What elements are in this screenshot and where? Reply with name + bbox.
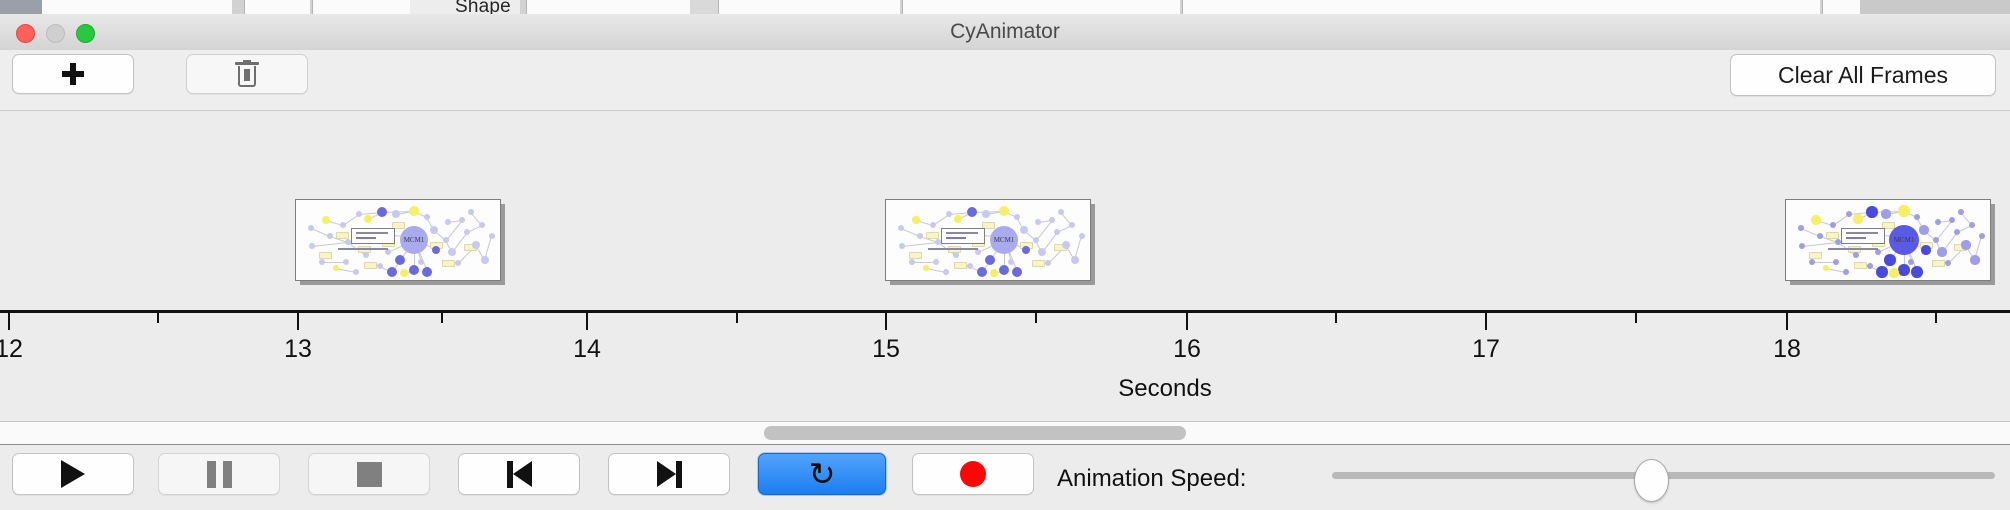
network-node: [422, 267, 432, 277]
network-node-label: [954, 262, 967, 269]
skip-forward-icon: [657, 461, 682, 488]
network-node: [308, 225, 314, 231]
axis-tick-label: 15: [872, 335, 900, 364]
axis-tick-major: [885, 313, 887, 330]
network-node: [455, 260, 461, 266]
network-node: [364, 215, 372, 223]
network-node: [1020, 226, 1028, 234]
background-window-strip: Shape: [0, 0, 2010, 14]
network-node: [912, 216, 920, 224]
axis-tick-label: 12: [0, 335, 23, 364]
window-title: CyAnimator: [0, 14, 2010, 50]
network-node-label: [1809, 252, 1822, 259]
network-node: [923, 265, 929, 271]
network-node: [1846, 211, 1853, 218]
network-node: [982, 210, 990, 218]
network-node: [967, 263, 973, 269]
frame-thumbnail-3[interactable]: MCM1: [1785, 199, 1995, 285]
network-node: [985, 255, 995, 265]
network-node: [409, 265, 419, 275]
network-node: [377, 263, 383, 269]
network-edge: [312, 242, 348, 247]
network-node: [909, 259, 915, 265]
network-node: [1062, 241, 1070, 249]
transport-bar: ↻ Animation Speed:: [0, 445, 2010, 510]
pause-button[interactable]: [158, 453, 280, 495]
network-node: [1830, 222, 1837, 229]
network-node: [479, 222, 485, 228]
network-node: [1853, 252, 1860, 259]
axis-title: Seconds: [1118, 375, 1211, 403]
network-node: [468, 209, 474, 215]
loop-button[interactable]: ↻: [758, 453, 886, 495]
network-node: [363, 252, 369, 258]
network-node: [954, 215, 962, 223]
network-node: [1799, 243, 1806, 250]
network-node: [999, 206, 1009, 216]
network-node: [472, 241, 480, 249]
timeline-panel[interactable]: 12131415161718 MCM1MCM1MCM1 Seconds: [0, 111, 2010, 422]
network-node: [1823, 265, 1830, 272]
network-node: [1038, 248, 1046, 256]
axis-tick-label: 16: [1173, 335, 1201, 364]
network-node: [353, 269, 359, 275]
title-bar: CyAnimator: [0, 14, 2010, 51]
network-node: [1843, 269, 1850, 276]
frame-network-image: MCM1: [1785, 199, 1991, 281]
play-button[interactable]: [12, 453, 134, 495]
network-node: [917, 233, 923, 239]
network-node: [409, 206, 419, 216]
network-node: [327, 233, 333, 239]
network-node: [1079, 233, 1085, 239]
trash-icon: [235, 60, 259, 88]
network-node-label: [442, 260, 455, 267]
network-edge: [902, 242, 938, 247]
record-icon: [960, 461, 986, 487]
network-node-label: [336, 232, 349, 239]
axis-tick-minor: [157, 313, 159, 323]
network-node-label: [319, 252, 332, 259]
axis-tick-label: 14: [573, 335, 601, 364]
network-node: [459, 217, 465, 223]
network-node: [1889, 268, 1898, 277]
network-node: [1933, 237, 1940, 244]
network-node: [489, 233, 495, 239]
network-node: [1954, 229, 1961, 236]
plus-icon: [62, 63, 84, 85]
network-node: [1876, 266, 1888, 278]
network-node: [333, 265, 339, 271]
axis-tick-minor: [1335, 313, 1337, 323]
network-edge: [1802, 242, 1838, 247]
axis-tick-major: [1786, 313, 1788, 330]
network-node-label: [926, 232, 939, 239]
axis-tick-major: [1186, 313, 1188, 330]
network-node: [1069, 222, 1075, 228]
network-node: [943, 269, 949, 275]
axis-tick-major: [8, 313, 10, 330]
loop-icon: ↻: [809, 458, 836, 490]
network-node: [1049, 217, 1055, 223]
cyanimator-window: Shape CyAnimator Clear All Frames 121314…: [0, 0, 2010, 510]
network-node: [1945, 260, 1952, 267]
network-node: [1935, 219, 1942, 226]
network-node: [424, 214, 430, 220]
network-node: [1914, 214, 1921, 221]
network-node: [898, 225, 904, 231]
background-window-label: Shape: [455, 0, 511, 14]
network-node: [1045, 260, 1051, 266]
network-node: [1937, 247, 1946, 256]
frame-network-image: MCM1: [295, 199, 501, 281]
axis-tick-major: [297, 313, 299, 330]
network-node: [1058, 209, 1064, 215]
axis-tick-minor: [1935, 313, 1937, 323]
network-node: [395, 255, 405, 265]
network-node: [1979, 233, 1986, 240]
stop-button[interactable]: [308, 453, 430, 495]
network-node: [1811, 215, 1820, 224]
network-node: [319, 259, 325, 265]
network-node: [481, 256, 489, 264]
network-node: [464, 229, 470, 235]
network-node: [1809, 259, 1816, 266]
network-node: [930, 222, 936, 228]
network-node-label: [909, 252, 922, 259]
delete-frame-button[interactable]: [186, 54, 308, 94]
axis-tick-major: [1485, 313, 1487, 330]
network-node: [1911, 266, 1923, 278]
network-node: [400, 269, 408, 277]
network-node: [387, 267, 397, 277]
network-node-label: [364, 262, 377, 269]
network-annotation: [338, 248, 388, 250]
network-node-label: [1032, 260, 1045, 267]
play-icon: [61, 460, 85, 488]
network-node: [1961, 240, 1970, 249]
network-node: [392, 210, 400, 218]
network-node: [1853, 214, 1862, 223]
network-node: [1949, 217, 1956, 224]
network-node-label: [1826, 232, 1839, 239]
network-node: [418, 259, 424, 265]
network-node: [1035, 219, 1041, 225]
network-node: [1071, 256, 1079, 264]
network-node: [899, 243, 905, 249]
stop-icon: [357, 462, 382, 487]
network-node: [356, 211, 362, 217]
network-node: [343, 259, 349, 265]
axis-tick-label: 17: [1472, 335, 1500, 364]
network-callout: [1841, 228, 1885, 244]
axis-tick-major: [586, 313, 588, 330]
timeline-axis: [0, 310, 2010, 313]
network-callout: [941, 228, 985, 244]
axis-tick-label: 13: [284, 335, 312, 364]
network-node: [322, 216, 330, 224]
axis-tick-minor: [1035, 313, 1037, 323]
network-node: [1919, 225, 1928, 234]
network-node-label: [1932, 260, 1945, 267]
axis-tick-minor: [1635, 313, 1637, 323]
network-node: [946, 211, 952, 217]
frame-thumbnail-1[interactable]: MCM1: [295, 199, 505, 285]
network-node: [1033, 237, 1039, 243]
network-node: [377, 207, 387, 217]
network-node: [967, 207, 977, 217]
axis-tick-label: 18: [1773, 335, 1801, 364]
network-node: [1817, 233, 1824, 240]
frame-network-image: MCM1: [885, 199, 1091, 281]
network-node: [1866, 206, 1878, 218]
network-hub-node: MCM1: [400, 226, 428, 254]
frame-thumbnail-2[interactable]: MCM1: [885, 199, 1095, 285]
network-annotation: [928, 248, 978, 250]
network-node: [1014, 214, 1020, 220]
network-node: [977, 267, 987, 277]
network-node: [432, 246, 440, 254]
network-hub-node: MCM1: [1889, 225, 1919, 255]
network-node: [1884, 254, 1896, 266]
animation-speed-label: Animation Speed:: [1057, 465, 1246, 493]
axis-tick-minor: [441, 313, 443, 323]
network-node: [448, 248, 456, 256]
network-node: [1008, 259, 1014, 265]
network-node: [1012, 267, 1022, 277]
network-node: [1054, 229, 1060, 235]
network-node: [1921, 245, 1930, 254]
skip-back-button[interactable]: [458, 453, 580, 495]
network-node: [1970, 255, 1979, 264]
network-node: [443, 237, 449, 243]
network-node: [1833, 259, 1840, 266]
network-node: [309, 243, 315, 249]
record-button[interactable]: [912, 453, 1034, 495]
network-node: [1898, 205, 1910, 217]
slider-thumb[interactable]: [1634, 459, 1669, 502]
axis-tick-minor: [736, 313, 738, 323]
network-node: [933, 259, 939, 265]
network-node: [999, 265, 1009, 275]
network-node: [340, 222, 346, 228]
network-callout: [351, 228, 395, 244]
network-node: [1881, 209, 1890, 218]
network-node: [445, 219, 451, 225]
network-node: [1898, 264, 1910, 276]
network-node: [1969, 222, 1976, 229]
network-node: [1022, 246, 1030, 254]
network-annotation: [1828, 248, 1878, 250]
pause-icon: [207, 461, 232, 488]
network-node: [430, 226, 438, 234]
network-node: [953, 252, 959, 258]
scrollbar-thumb[interactable]: [764, 426, 1186, 440]
add-frame-button[interactable]: [12, 54, 134, 94]
network-node-label: [1854, 262, 1867, 269]
skip-forward-button[interactable]: [608, 453, 730, 495]
skip-back-icon: [507, 461, 532, 488]
network-node: [990, 269, 998, 277]
network-hub-node: MCM1: [990, 226, 1018, 254]
clear-all-frames-button[interactable]: Clear All Frames: [1730, 54, 1996, 96]
timeline-scrollbar[interactable]: [0, 422, 2010, 445]
